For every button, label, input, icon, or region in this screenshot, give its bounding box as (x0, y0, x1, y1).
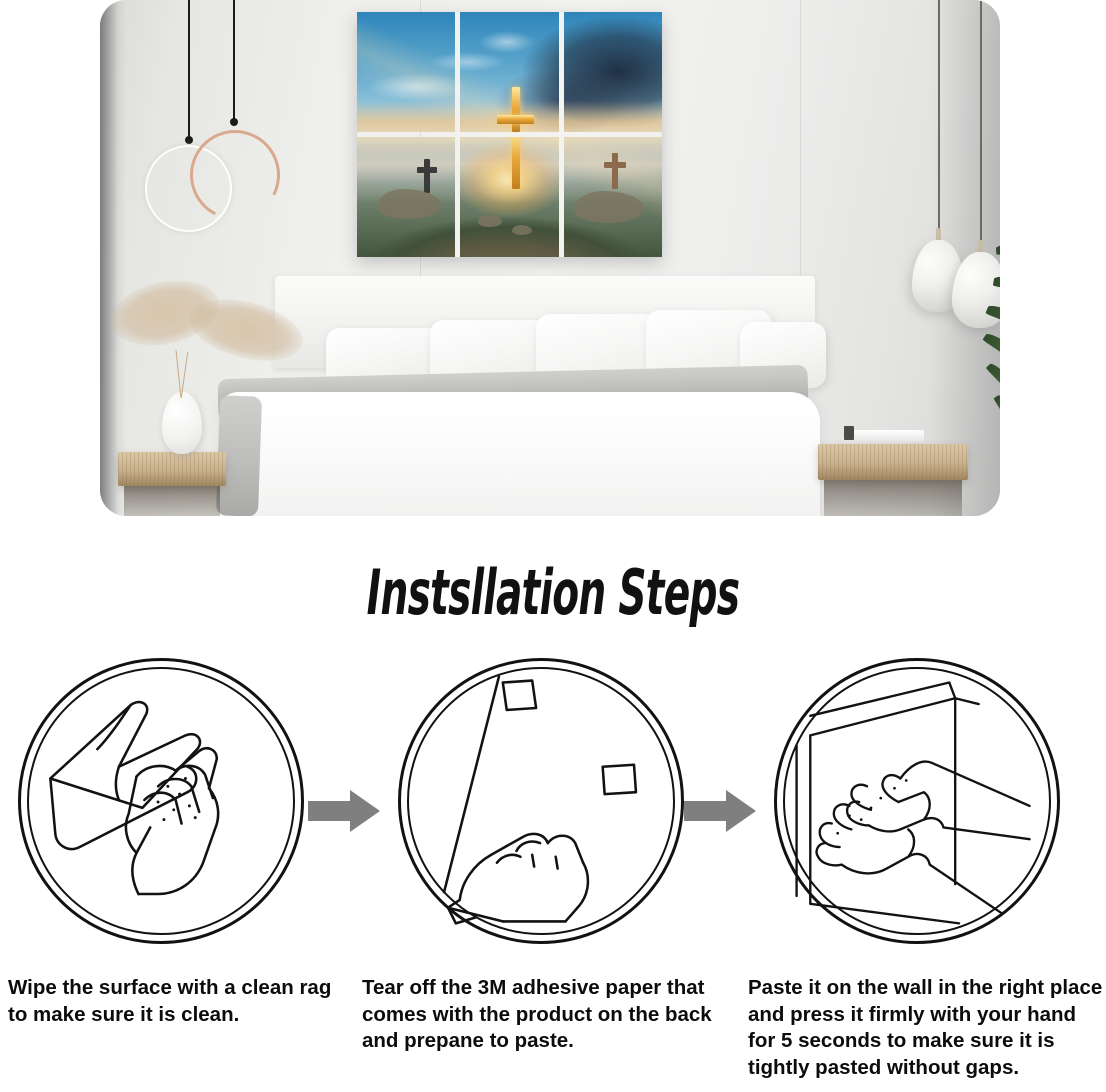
book-spine (844, 426, 854, 440)
nightstand-shadow (124, 486, 220, 516)
art-panel-bottom-center (460, 137, 558, 257)
palm-plant (980, 176, 1000, 506)
gold-cross-top (504, 87, 526, 132)
wall-shadow-left (100, 0, 126, 516)
arrow-step-2-to-3 (684, 790, 756, 832)
wall-seam (800, 0, 801, 300)
white-vase (162, 392, 202, 454)
arrow-step-1-to-2 (308, 790, 380, 832)
arrow-head (350, 790, 380, 832)
hand-wiping-cloth-icon (21, 661, 301, 941)
step-3-caption: Paste it on the wall in the right place … (748, 975, 1106, 1082)
art-panel-top-right (564, 12, 662, 132)
step-1-caption: Wipe the surface with a clean rag to mak… (8, 975, 338, 1028)
hill-rock (377, 189, 441, 219)
hill-rock (478, 215, 502, 227)
room-scene-image (100, 0, 1000, 516)
stone-cross-right (604, 153, 626, 189)
books-on-nightstand (844, 430, 924, 442)
art-panel-top-center (460, 12, 558, 132)
art-panel-bottom-left (357, 137, 455, 257)
pendant-bead (185, 136, 193, 144)
step-2-caption: Tear off the 3M adhesive paper that come… (362, 975, 712, 1055)
hill-rock (512, 225, 532, 235)
nightstand-right (818, 444, 968, 480)
wall-art-six-panel (357, 12, 662, 257)
step-3-illustration (774, 658, 1060, 944)
art-panel-bottom-right (564, 137, 662, 257)
bed-duvet (220, 392, 820, 516)
two-hands-pressing-panel-icon (777, 661, 1057, 941)
pendant-cord (188, 0, 190, 140)
page-title: Instsllation Steps (166, 556, 940, 629)
nightstand-shadow (824, 480, 962, 516)
arrow-shaft (308, 801, 352, 821)
arrow-head (726, 790, 756, 832)
art-panel-top-left (357, 12, 455, 132)
step-1-illustration (18, 658, 304, 944)
pendant-cord (233, 0, 235, 120)
pendant-bead (230, 118, 238, 126)
hand-peeling-adhesive-icon (401, 661, 681, 941)
arrow-shaft (684, 801, 728, 821)
gold-cross-main (505, 137, 525, 189)
nightstand-left (118, 452, 226, 486)
pendant-cord (938, 0, 940, 232)
hill-rock (574, 191, 644, 223)
step-2-illustration (398, 658, 684, 944)
stone-cross-left (417, 159, 437, 193)
